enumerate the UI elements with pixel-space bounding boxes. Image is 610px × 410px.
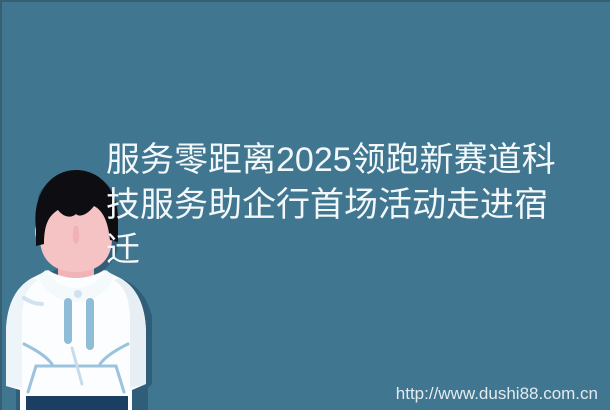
drawstring-right	[86, 298, 94, 350]
drawstring-left	[64, 298, 72, 344]
site-url-watermark: http://www.dushi88.com.cn	[396, 384, 598, 404]
hood-knot	[74, 290, 82, 298]
pants-legs	[26, 402, 128, 410]
page-title: 服务零距离2025领跑新赛道科技服务助企行首场活动走进宿迁	[106, 138, 576, 273]
article-thumbnail-card: 服务零距离2025领跑新赛道科技服务助企行首场活动走进宿迁 http://www…	[0, 0, 610, 410]
nose	[73, 226, 80, 244]
